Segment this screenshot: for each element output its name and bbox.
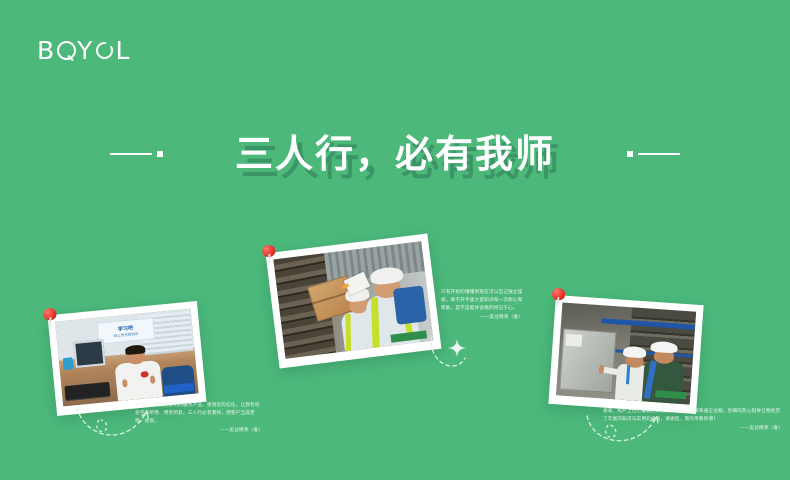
testimonial-card-office[interactable]: 学习吧 线上时代的知识: [48, 301, 207, 416]
sparkle-star-icon: [448, 339, 466, 357]
caption-office: 致客户：感谢对我们的服务产品、感谢您的信任，让我有机会学有所用、用有所获。三人行…: [135, 402, 263, 435]
testimonial-card-packing[interactable]: [266, 233, 442, 368]
caption-body: 致客户：感谢对我们的服务产品、感谢您的信任，让我有机会学有所用、用有所获。三人行…: [135, 402, 263, 426]
caption-attribution: ——卖业精英（谁）: [135, 427, 263, 435]
caption-attribution: ——卖业精英（谁）: [441, 314, 523, 322]
brand-logo: B Y L: [37, 38, 131, 63]
caption-packing: 只有开始的懂懂到现在可以自己独立操核，离不开手里大佬知识每一次耐心和帮助，是不是…: [441, 289, 523, 322]
testimonial-card-warehouse[interactable]: [548, 295, 703, 414]
caption-body: 谢谢，照片上百忙着我的师傅那我取得的理解和通正业顺，您细的热心指导让我经历了丰富…: [603, 408, 783, 424]
photo-scene-office: 学习吧 线上时代的知识: [55, 309, 199, 407]
person-shape: [112, 344, 163, 401]
decoration-bar: [110, 153, 152, 155]
hero-title-row: 三人行，必有我师: [0, 135, 790, 173]
photo-scene-warehouse: [556, 302, 696, 404]
card-photo: 学习吧 线上时代的知识: [55, 309, 199, 407]
page-title: 三人行，必有我师: [165, 135, 625, 173]
logo-letter-b: B: [37, 38, 56, 63]
caption-body: 只有开始的懂懂到现在可以自己独立操核，离不开手里大佬知识每一次耐心和帮助，是不是…: [441, 289, 523, 313]
card-photo: [273, 241, 433, 358]
decoration-dot: [157, 151, 163, 157]
pallet-shape: [559, 329, 617, 394]
title-decoration-right-icon: [627, 151, 680, 157]
card-photo: [556, 302, 696, 404]
photo-scene-packing: [273, 241, 433, 358]
caption-warehouse: 谢谢，照片上百忙着我的师傅那我取得的理解和通正业顺，您细的热心指导让我经历了丰富…: [603, 408, 783, 433]
caption-attribution: ——卖业精英（谁）: [603, 425, 783, 433]
banner-line-2: 线上时代的知识: [114, 331, 139, 338]
cup-shape: [63, 358, 74, 371]
decoration-bar: [638, 153, 680, 155]
backpack-shape: [393, 286, 427, 325]
monitor-shape: [73, 339, 105, 367]
decoration-dot: [627, 151, 633, 157]
logo-letter-o-icon: [96, 42, 113, 59]
slide-canvas: B Y L 三人行，必有我师 学习吧 线上时代的知识: [0, 0, 790, 480]
logo-letter-q-icon: [57, 41, 76, 60]
title-decoration-left-icon: [110, 151, 163, 157]
logo-letter-l: L: [115, 38, 131, 63]
logo-letter-y: Y: [77, 38, 94, 63]
keyboard-shape: [64, 382, 110, 401]
